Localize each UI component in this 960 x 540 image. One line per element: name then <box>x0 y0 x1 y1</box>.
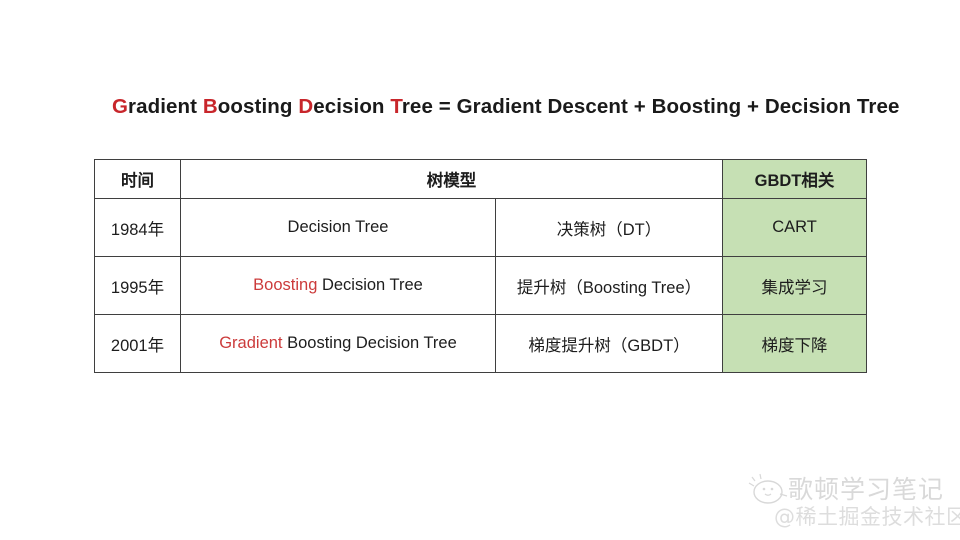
watermark-line-2: @稀土掘金技术社区 <box>774 501 960 531</box>
gbdt-timeline-table-wrapper: 时间 树模型 GBDT相关 1984年 Decision Tree 决策树（DT… <box>94 159 866 373</box>
cell-english-model: Boosting Decision Tree <box>181 257 496 315</box>
cell-chinese-model: 梯度提升树（GBDT） <box>496 315 723 373</box>
cell-english-red: Boosting <box>253 276 317 294</box>
cell-time: 2001年 <box>95 315 181 373</box>
cell-english-black: Boosting Decision Tree <box>283 334 457 352</box>
title-seg-2: B <box>203 95 218 118</box>
cell-english-black: Decision Tree <box>288 218 389 236</box>
page-title: Gradient Boosting Decision Tree = Gradie… <box>112 95 900 119</box>
cell-english-red: Gradient <box>219 334 282 352</box>
cell-english-black: Decision Tree <box>317 276 422 294</box>
cell-chinese-model: 决策树（DT） <box>496 199 723 257</box>
table-row: 1984年 Decision Tree 决策树（DT） CART <box>95 199 867 257</box>
column-header-tree-model: 树模型 <box>181 160 723 199</box>
cell-gbdt-related: 集成学习 <box>723 257 867 315</box>
watermark: 歌顿学习笔记 @稀土掘金技术社区 <box>744 470 956 532</box>
title-seg-7: ree = Gradient Descent + Boosting + Deci… <box>402 95 900 118</box>
title-seg-5: ecision <box>313 95 390 118</box>
table-row: 2001年 Gradient Boosting Decision Tree 梯度… <box>95 315 867 373</box>
cell-chinese-model: 提升树（Boosting Tree） <box>496 257 723 315</box>
slide-canvas: Gradient Boosting Decision Tree = Gradie… <box>0 0 960 540</box>
column-header-time: 时间 <box>95 160 181 199</box>
title-seg-4: D <box>298 95 313 118</box>
table-row: 1995年 Boosting Decision Tree 提升树（Boostin… <box>95 257 867 315</box>
column-header-gbdt-related: GBDT相关 <box>723 160 867 199</box>
cell-time: 1995年 <box>95 257 181 315</box>
title-seg-0: G <box>112 95 128 118</box>
cell-gbdt-related: 梯度下降 <box>723 315 867 373</box>
gbdt-timeline-table: 时间 树模型 GBDT相关 1984年 Decision Tree 决策树（DT… <box>94 159 867 373</box>
cell-english-model: Gradient Boosting Decision Tree <box>181 315 496 373</box>
cell-english-model: Decision Tree <box>181 199 496 257</box>
watermark-line-1: 歌顿学习笔记 <box>788 470 944 506</box>
title-seg-1: radient <box>128 95 203 118</box>
table-header-row: 时间 树模型 GBDT相关 <box>95 160 867 199</box>
chick-bird-icon <box>744 472 792 506</box>
cell-time: 1984年 <box>95 199 181 257</box>
cell-gbdt-related: CART <box>723 199 867 257</box>
title-seg-3: oosting <box>218 95 299 118</box>
title-seg-6: T <box>390 95 402 118</box>
